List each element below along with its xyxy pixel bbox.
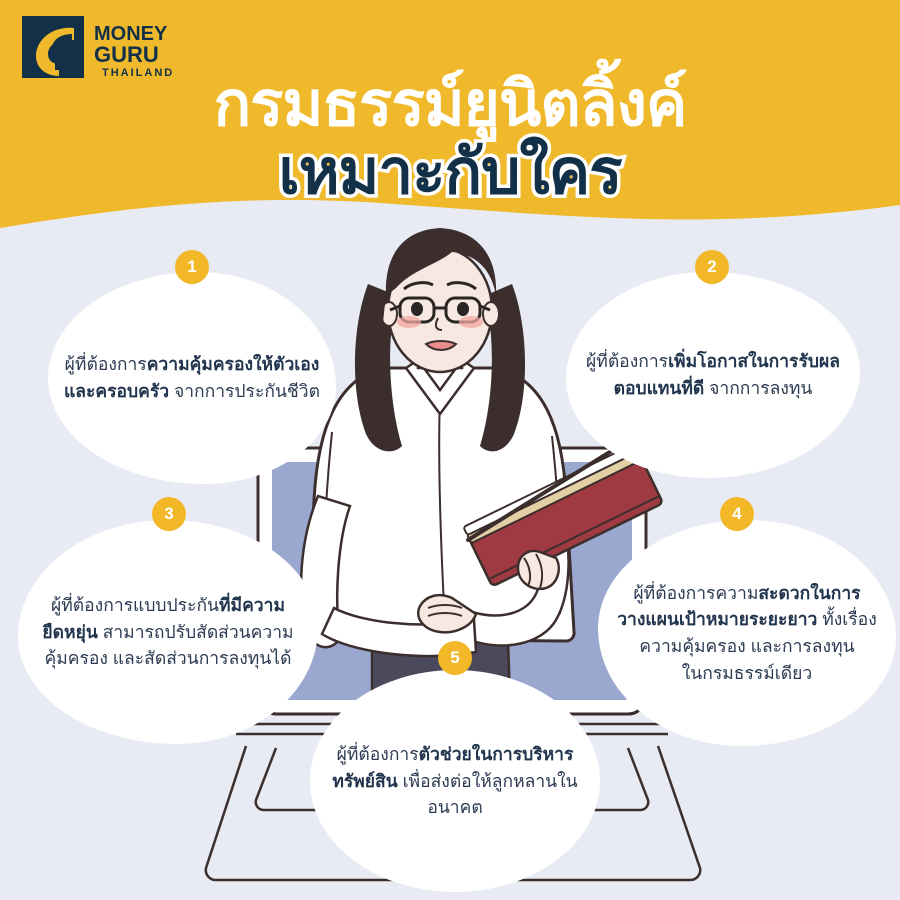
eye-left [411, 302, 423, 316]
bubble-3-number-badge: 3 [152, 497, 186, 531]
page-title: กรมธรรม์ยูนิตลิ้งค์ เหมาะกับใคร [0, 74, 900, 205]
bubble-long-term-planning[interactable]: ผู้ที่ต้องการความสะดวกในการวางแผนเป้าหมา… [598, 520, 896, 746]
blush-right [459, 316, 483, 328]
bubble-2-text: ผู้ที่ต้องการเพิ่มโอกาสในการรับผลตอบแทนท… [566, 348, 860, 401]
bubble-5-number-badge: 5 [438, 641, 472, 675]
bubble-wealth-management[interactable]: ผู้ที่ต้องการตัวช่วยในการบริหารทรัพย์สิน… [310, 670, 600, 892]
title-line-2: เหมาะกับใคร [0, 140, 900, 205]
bubble-1-number-badge: 1 [175, 250, 209, 284]
eye-right [457, 302, 469, 316]
blush-left [397, 316, 421, 328]
bubble-2-number-badge: 2 [695, 250, 729, 284]
title-line-1: กรมธรรม์ยูนิตลิ้งค์ [0, 74, 900, 136]
bubble-3-text: ผู้ที่ต้องการแบบประกันที่มีความยืดหยุ่น … [18, 592, 318, 672]
bubble-4-text: ผู้ที่ต้องการความสะดวกในการวางแผนเป้าหมา… [598, 580, 896, 686]
bubble-flexibility[interactable]: ผู้ที่ต้องการแบบประกันที่มีความยืดหยุ่น … [18, 520, 318, 744]
bubble-4-number-badge: 4 [720, 497, 754, 531]
bubble-5-text: ผู้ที่ต้องการตัวช่วยในการบริหารทรัพย์สิน… [310, 741, 600, 821]
infographic-canvas: MONEY GURU THAILAND กรมธรรม์ยูนิตลิ้งค์ … [0, 0, 900, 900]
logo-text-guru: GURU [94, 42, 159, 67]
bubble-1-text: ผู้ที่ต้องการความคุ้มครองให้ตัวเอง และคร… [48, 351, 336, 404]
moneyguru-logo[interactable]: MONEY GURU THAILAND [22, 14, 172, 82]
